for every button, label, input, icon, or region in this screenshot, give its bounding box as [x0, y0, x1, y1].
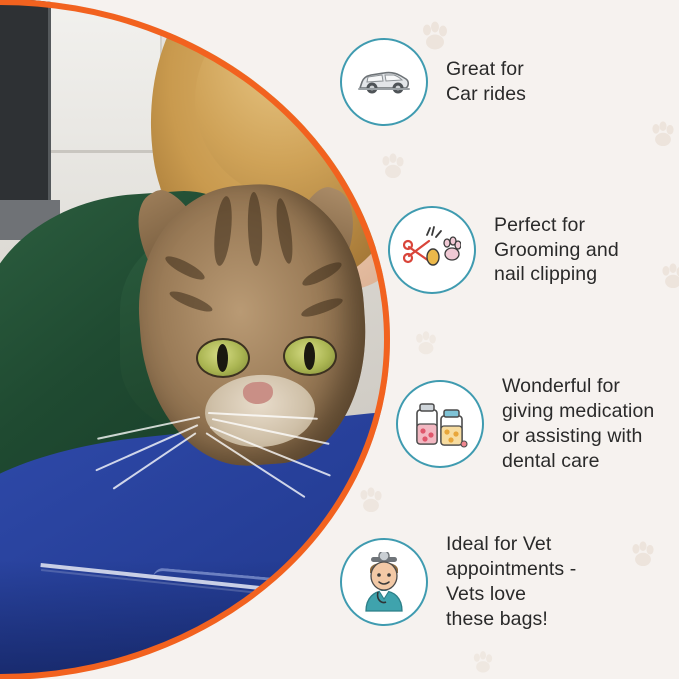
car-icon [356, 65, 412, 99]
feature-icon-circle [388, 206, 476, 294]
feature-text: Great for Car rides [446, 57, 526, 107]
feature-text: Wonderful for giving medication or assis… [502, 374, 654, 474]
feature-item-grooming: Perfect for Grooming and nail clipping [388, 206, 619, 294]
feature-item-medication: Wonderful for giving medication or assis… [396, 374, 654, 474]
feature-item-car-rides: Great for Car rides [340, 38, 526, 126]
feature-icon-circle [396, 380, 484, 468]
cat-eye-right [283, 336, 337, 376]
medicine-bottles-icon [411, 398, 469, 450]
feature-item-vet: Ideal for Vet appointments - Vets love t… [340, 532, 576, 632]
product-feature-poster: Great for Car rides [0, 0, 679, 679]
feature-text: Ideal for Vet appointments - Vets love t… [446, 532, 576, 632]
grooming-scissors-paw-icon [403, 225, 461, 275]
feature-icon-circle [340, 538, 428, 626]
feature-text: Perfect for Grooming and nail clipping [494, 213, 619, 288]
feature-icon-circle [340, 38, 428, 126]
veterinarian-icon [356, 552, 412, 612]
feature-list: Great for Car rides [330, 0, 679, 679]
cat-eye-left [196, 338, 250, 378]
